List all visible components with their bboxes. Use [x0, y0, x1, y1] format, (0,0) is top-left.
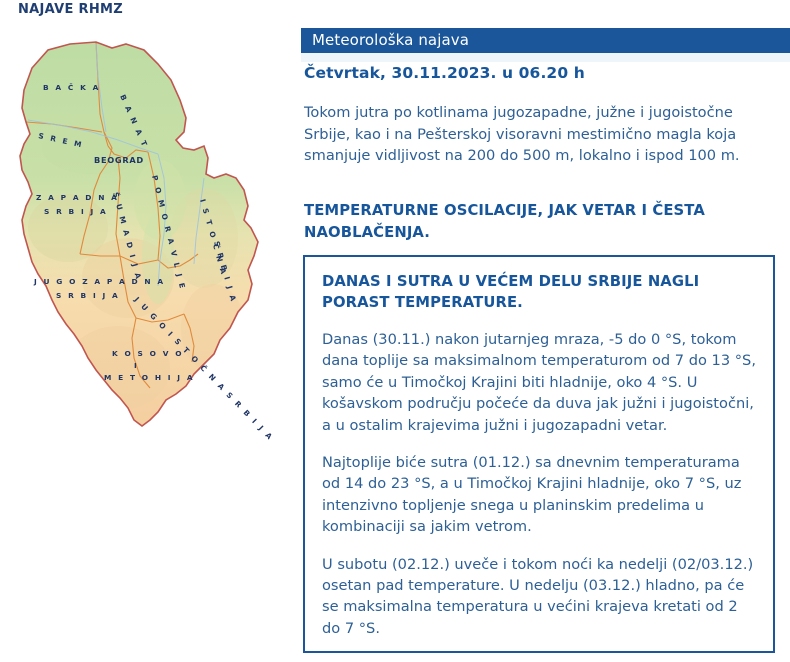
map-label-zapadna-srbija-line2: S R B I J A: [44, 207, 108, 216]
alert-box-paragraph-1: Danas (30.11.) nakon jutarnjeg mraza, -5…: [322, 329, 757, 436]
map-label-kosovo-line1: K O S O V O: [112, 349, 184, 358]
bulletin-headline: TEMPERATURNE OSCILACIJE, JAK VETAR I ČES…: [304, 200, 779, 244]
alert-box-paragraph-3: U subotu (02.12.) uveče i tokom noći ka …: [322, 554, 757, 640]
map-svg: B A Č K A B A N A T S R E M BEOGRAD Z A …: [8, 28, 280, 478]
bulletin-date-line: Četvrtak, 30.11.2023. u 06.20 h: [304, 64, 585, 82]
bulletin-title-bar: Meteorološka najava: [301, 28, 790, 53]
alert-box: DANAS I SUTRA U VEĆEM DELU SRBIJE NAGLI …: [303, 255, 775, 653]
map-label-zapadna-srbija-line1: Z A P A D N A: [36, 193, 119, 202]
alert-box-paragraph-2: Najtoplije biće sutra (01.12.) sa dnevni…: [322, 452, 757, 538]
map-label-jugozapadna-srbija-line2: S R B I J A: [56, 291, 120, 300]
bulletin-title-bar-label: Meteorološka najava: [312, 31, 469, 49]
serbia-region-map: B A Č K A B A N A T S R E M BEOGRAD Z A …: [8, 28, 280, 478]
map-label-kosovo-line2: I: [134, 361, 139, 370]
title-bar-underline: [301, 53, 790, 62]
map-label-kosovo-line3: M E T O H I J A: [104, 373, 195, 382]
alert-box-inner: DANAS I SUTRA U VEĆEM DELU SRBIJE NAGLI …: [305, 257, 773, 639]
bulletin-content: Meteorološka najava Četvrtak, 30.11.2023…: [290, 0, 790, 662]
page-title: NAJAVE RHMZ: [18, 2, 123, 17]
alert-box-heading: DANAS I SUTRA U VEĆEM DELU SRBIJE NAGLI …: [322, 271, 757, 313]
map-label-beograd: BEOGRAD: [94, 155, 144, 165]
bulletin-intro-paragraph: Tokom jutra po kotlinama jugozapadne, ju…: [304, 102, 776, 167]
map-label-backa: B A Č K A: [43, 83, 100, 92]
map-label-jugozapadna-srbija-line1: J U G O Z A P A D N A: [33, 277, 165, 286]
